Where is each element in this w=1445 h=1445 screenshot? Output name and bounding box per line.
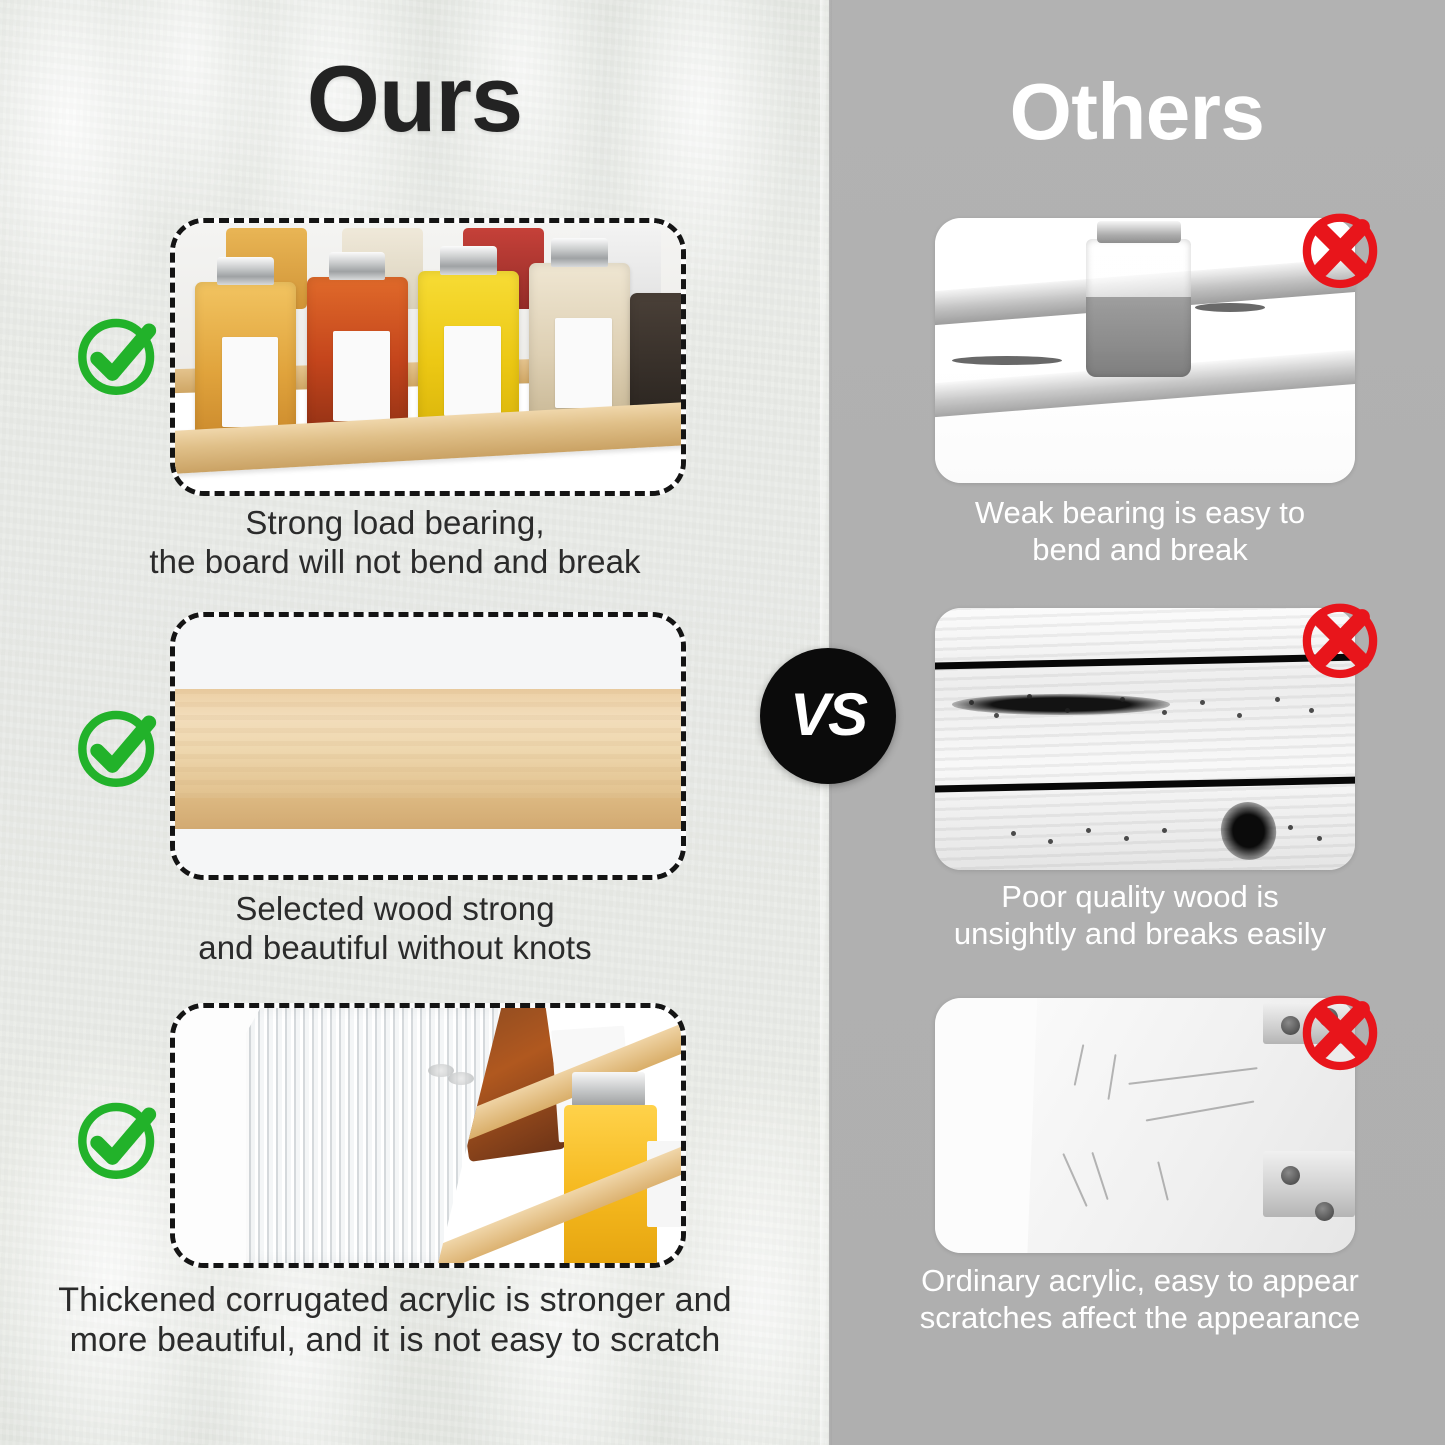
others-caption-1-line1: Weak bearing is easy to xyxy=(855,494,1425,531)
others-image-panel-3 xyxy=(935,998,1355,1253)
ours-image-panel-2 xyxy=(170,612,686,880)
others-caption-1: Weak bearing is easy to bend and break xyxy=(855,494,1425,568)
others-image-panel-2 xyxy=(935,608,1355,870)
others-caption-2: Poor quality wood is unsightly and break… xyxy=(855,878,1425,952)
comparison-infographic: Ours Others Strong load bearing, the boa… xyxy=(0,0,1445,1445)
vs-badge: VS xyxy=(760,648,896,784)
others-caption-3-line1: Ordinary acrylic, easy to appear xyxy=(855,1262,1425,1299)
corrugated-acrylic-photo xyxy=(175,1008,681,1263)
clean-wood-board-photo xyxy=(175,617,681,875)
spice-jars-photo xyxy=(175,223,681,491)
knotty-wood-photo xyxy=(935,608,1355,870)
ours-caption-2-line2: and beautiful without knots xyxy=(0,929,790,968)
ours-title: Ours xyxy=(0,52,829,146)
others-title: Others xyxy=(829,72,1445,152)
others-caption-1-line2: bend and break xyxy=(855,531,1425,568)
ours-caption-1-line1: Strong load bearing, xyxy=(0,504,790,543)
green-check-icon xyxy=(72,308,166,402)
others-caption-2-line2: unsightly and breaks easily xyxy=(855,915,1425,952)
ours-image-panel-1 xyxy=(170,218,686,496)
others-caption-3-line2: scratches affect the appearance xyxy=(855,1299,1425,1336)
others-caption-2-line1: Poor quality wood is xyxy=(855,878,1425,915)
red-cross-icon xyxy=(1294,985,1386,1077)
ours-caption-3-line2: more beautiful, and it is not easy to sc… xyxy=(0,1320,790,1360)
bending-shelf-photo xyxy=(935,218,1355,483)
others-image-panel-1 xyxy=(935,218,1355,483)
scratched-acrylic-photo xyxy=(935,998,1355,1253)
ours-caption-3: Thickened corrugated acrylic is stronger… xyxy=(0,1280,790,1360)
red-cross-icon xyxy=(1294,593,1386,685)
red-cross-icon xyxy=(1294,203,1386,295)
ours-caption-1-line2: the board will not bend and break xyxy=(0,543,790,582)
green-check-icon xyxy=(72,700,166,794)
vs-badge-label: VS xyxy=(790,680,866,749)
ours-caption-2-line1: Selected wood strong xyxy=(0,890,790,929)
ours-caption-3-line1: Thickened corrugated acrylic is stronger… xyxy=(0,1280,790,1320)
ours-caption-2: Selected wood strong and beautiful witho… xyxy=(0,890,790,968)
ours-image-panel-3 xyxy=(170,1003,686,1268)
green-check-icon xyxy=(72,1092,166,1186)
others-caption-3: Ordinary acrylic, easy to appear scratch… xyxy=(855,1262,1425,1336)
ours-caption-1: Strong load bearing, the board will not … xyxy=(0,504,790,582)
